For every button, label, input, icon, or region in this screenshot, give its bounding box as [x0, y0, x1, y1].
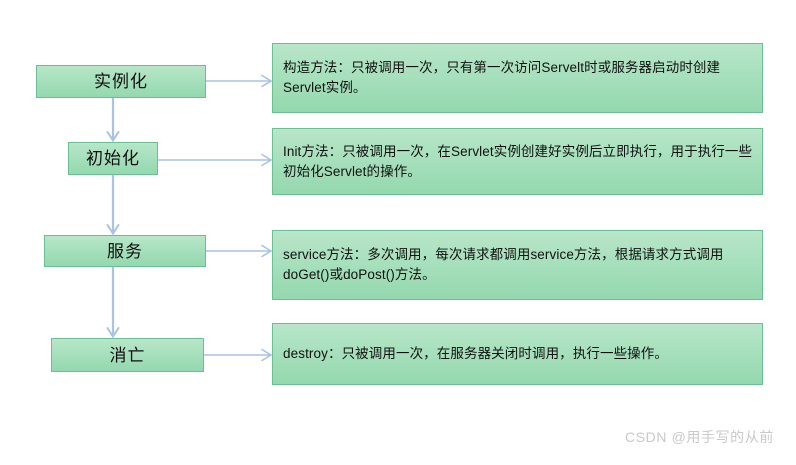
stage-label: 服务: [107, 243, 143, 260]
stage-box-service[interactable]: 服务: [44, 235, 206, 267]
stage-box-instantiation[interactable]: 实例化: [36, 65, 206, 98]
csdn-watermark: CSDN @用手写的从前: [625, 427, 774, 447]
note-box-init[interactable]: Init方法：只被调用一次，在Servlet实例创建好实例后立即执行，用于执行一…: [272, 128, 763, 195]
connector-service-to-destroy: [108, 267, 119, 337]
note-box-constructor[interactable]: 构造方法：只被调用一次，只有第一次访问Servelt时或服务器启动时创建Serv…: [272, 43, 763, 113]
stage-box-initialization[interactable]: 初始化: [68, 142, 158, 175]
connector-instantiate-to-init: [108, 98, 119, 141]
note-text: 构造方法：只被调用一次，只有第一次访问Servelt时或服务器启动时创建Serv…: [273, 58, 762, 97]
connector-stage-2-to-note-2: [206, 246, 271, 257]
stage-label: 初始化: [86, 150, 140, 167]
note-box-service[interactable]: service方法：多次调用，每次请求都调用service方法，根据请求方式调用…: [272, 230, 763, 300]
stage-box-destroy[interactable]: 消亡: [51, 338, 204, 372]
note-box-destroy[interactable]: destroy：只被调用一次，在服务器关闭时调用，执行一些操作。: [272, 323, 763, 385]
connector-stage-3-to-note-3: [204, 350, 271, 361]
note-text: service方法：多次调用，每次请求都调用service方法，根据请求方式调用…: [273, 245, 762, 284]
connector-init-to-service: [108, 175, 119, 234]
connector-stage-1-to-note-1: [158, 155, 271, 166]
note-text: Init方法：只被调用一次，在Servlet实例创建好实例后立即执行，用于执行一…: [273, 142, 762, 181]
stage-label: 消亡: [110, 347, 146, 364]
connector-stage-0-to-note-0: [206, 76, 271, 87]
stage-label: 实例化: [94, 73, 148, 90]
diagram-canvas: 实例化 初始化 服务 消亡 构造方法：只被调用一次，只有第一次访问Servelt…: [0, 0, 796, 465]
note-text: destroy：只被调用一次，在服务器关闭时调用，执行一些操作。: [273, 344, 676, 364]
